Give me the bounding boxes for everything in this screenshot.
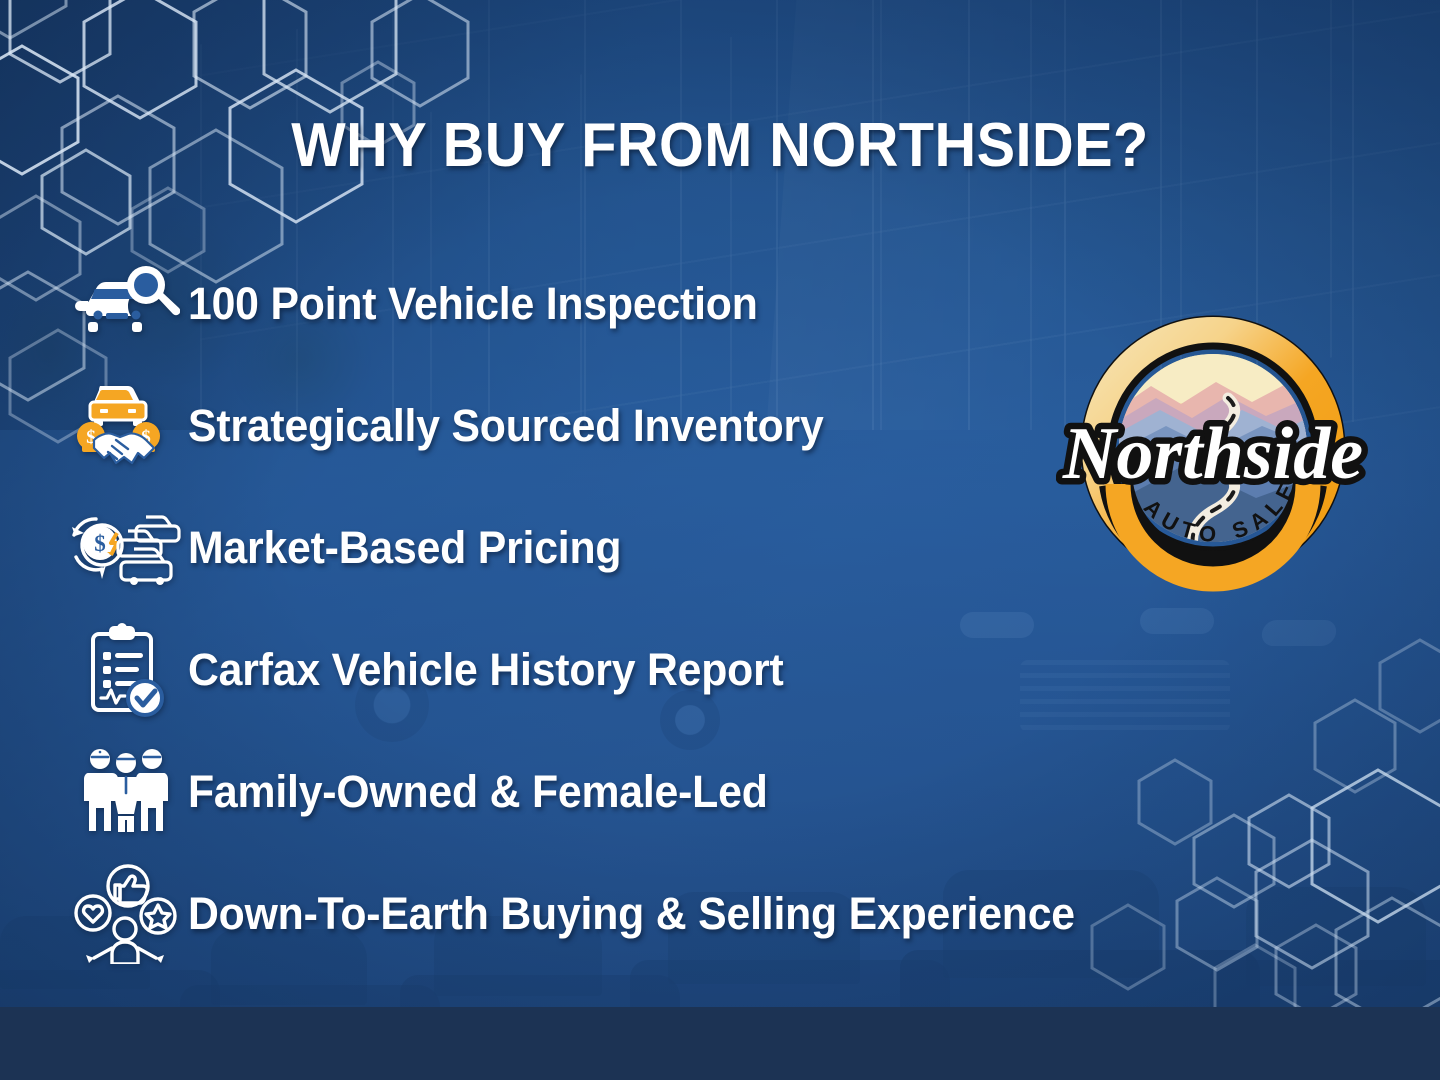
list-item: Down-To-Earth Buying & Selling Experienc… xyxy=(64,853,1244,975)
car-handshake-money-icon: $ $ xyxy=(64,374,188,478)
person-thumbsup-heart-star-icon xyxy=(64,862,188,966)
logo-wordmark: Northside xyxy=(1062,413,1363,495)
list-item-label: Market-Based Pricing xyxy=(188,522,621,574)
page-title: WHY BUY FROM NORTHSIDE? xyxy=(50,110,1389,181)
northside-auto-sales-logo: AUTO SALES Northside xyxy=(1056,306,1370,598)
marketing-slide: WHY BUY FROM NORTHSIDE? xyxy=(0,0,1440,1080)
dollar-cycle-cars-icon: $ xyxy=(64,496,188,600)
list-item: Carfax Vehicle History Report xyxy=(64,609,1244,731)
list-item-label: Strategically Sourced Inventory xyxy=(188,400,824,452)
list-item-label: 100 Point Vehicle Inspection xyxy=(188,278,758,330)
list-item-label: Down-To-Earth Buying & Selling Experienc… xyxy=(188,888,1075,940)
list-item-label: Family-Owned & Female-Led xyxy=(188,766,768,818)
svg-text:Northside: Northside xyxy=(1062,413,1363,495)
clipboard-check-icon xyxy=(64,618,188,722)
car-magnifier-icon xyxy=(64,252,188,356)
svg-text:$: $ xyxy=(94,531,106,556)
list-item-label: Carfax Vehicle History Report xyxy=(188,644,784,696)
list-item: Family-Owned & Female-Led xyxy=(64,731,1244,853)
bottom-bar xyxy=(0,1007,1440,1080)
family-group-icon xyxy=(64,740,188,844)
